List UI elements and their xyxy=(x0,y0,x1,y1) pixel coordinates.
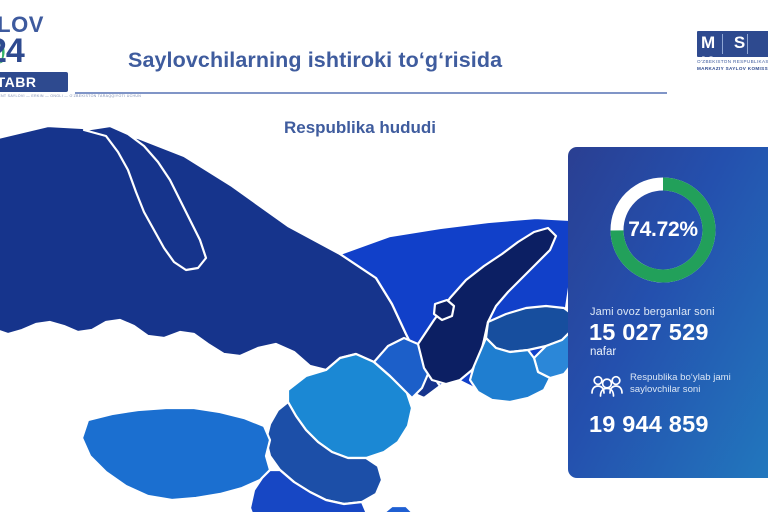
logo-month-band: KTABR xyxy=(0,72,68,92)
votes-cast-unit: nafar xyxy=(590,346,616,358)
votes-cast-value: 15 027 529 xyxy=(589,319,709,346)
turnout-donut-chart: 74.72% xyxy=(604,171,722,289)
logo-fine-print: PARLAMENT SAYLOVI — ERKIN — ONGLI — O'ZB… xyxy=(0,94,68,98)
header-divider xyxy=(75,92,667,94)
infographic-root: YLOV 24 KTABR PARLAMENT SAYLOVI — ERKIN … xyxy=(0,0,768,512)
total-voters-value: 19 944 859 xyxy=(589,411,709,438)
msk-logo: M S K O‘ZBEKISTON RESPUBLIKASI MARKAZIY … xyxy=(697,31,768,75)
votes-cast-label: Jami ovoz berganlar soni xyxy=(590,306,715,318)
turnout-stats-panel: 74.72% Jami ovoz berganlar soni 15 027 5… xyxy=(568,147,768,478)
page-title: Saylovchilarning ishtiroki to‘g‘risida xyxy=(128,48,598,73)
turnout-percent-label: 74.72% xyxy=(604,171,722,289)
logo-month-text: KTABR xyxy=(0,74,36,90)
region-buxoro[interactable] xyxy=(82,408,270,500)
people-group-icon xyxy=(590,373,624,397)
logo-year-text: 24 xyxy=(0,32,24,71)
msk-subtitle-line2: MARKAZIY SAYLOV KOMISSIYASI xyxy=(697,66,768,71)
region-toshkent-shahri[interactable] xyxy=(434,300,454,320)
msk-subtitle-line1: O‘ZBEKISTON RESPUBLIKASI xyxy=(697,59,768,64)
total-voters-label: Respublika bo‘ylab jami saylovchilar son… xyxy=(630,372,768,396)
uzbekistan-regions-map xyxy=(0,108,574,512)
election-2024-logo: YLOV 24 KTABR PARLAMENT SAYLOVI — ERKIN … xyxy=(0,6,68,102)
